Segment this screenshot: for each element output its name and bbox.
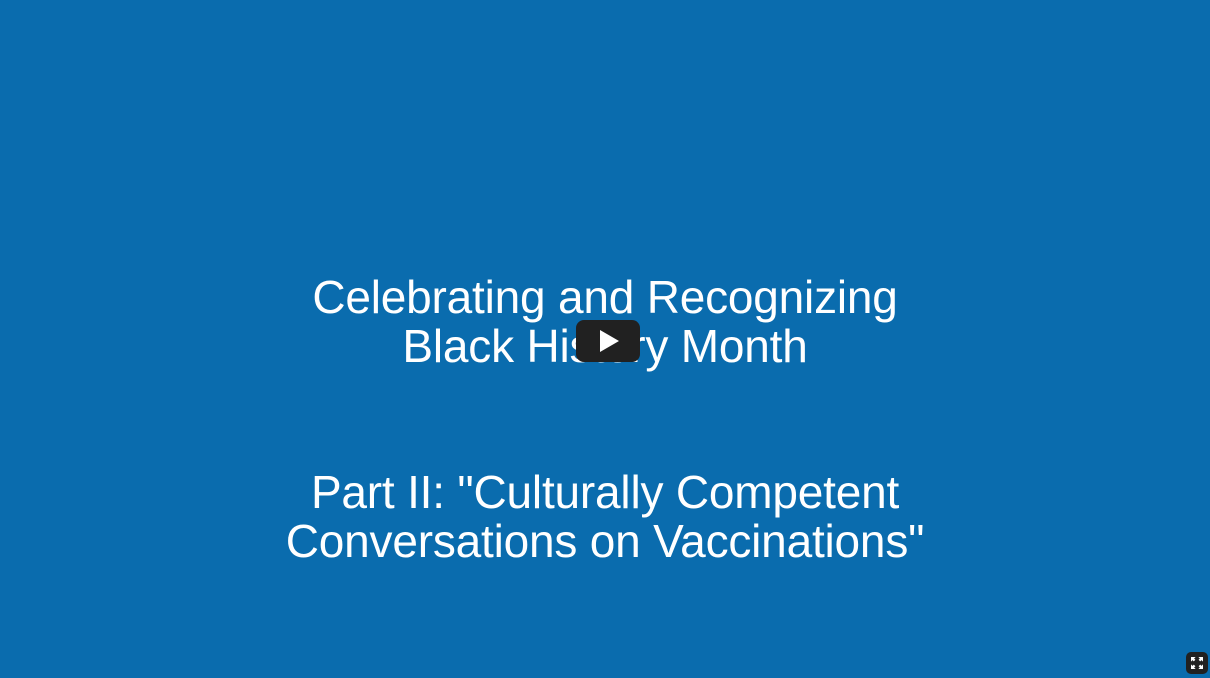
play-button[interactable]	[576, 320, 640, 362]
play-triangle-icon	[600, 330, 619, 352]
poster-text-block: Celebrating and Recognizing Black Histor…	[0, 224, 1210, 615]
fullscreen-button[interactable]	[1186, 652, 1208, 674]
poster-subtitle: Part II: "Culturally Competent Conversat…	[0, 468, 1210, 566]
fullscreen-expand-icon	[1190, 656, 1204, 670]
video-player[interactable]: Celebrating and Recognizing Black Histor…	[0, 0, 1210, 678]
